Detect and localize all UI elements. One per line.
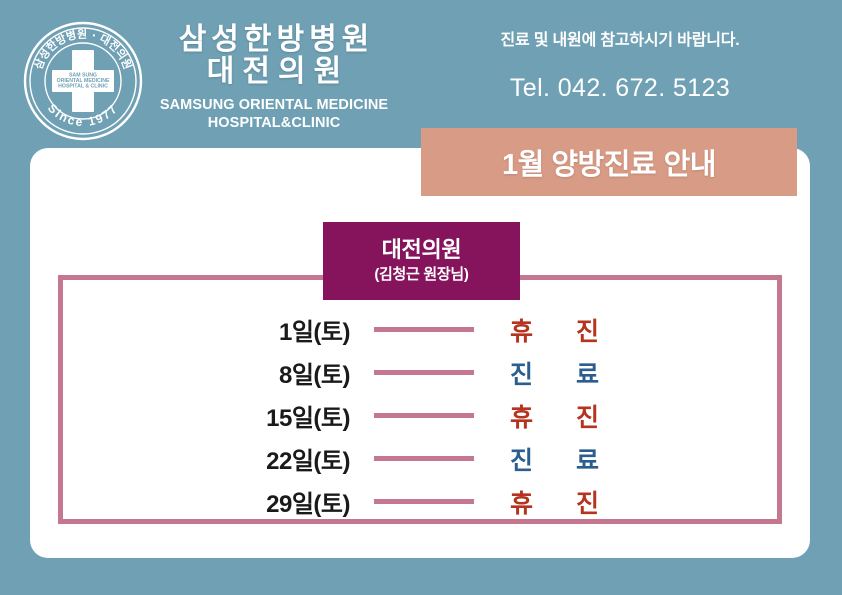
dash-line-icon [374, 370, 474, 375]
row-status: 휴 진 [498, 484, 690, 520]
row-separator [350, 413, 498, 418]
notice-text: 진료 및 내원에 참고하시기 바랍니다. [430, 26, 810, 50]
hospital-name-kr-line1: 삼성한방병원 [148, 24, 400, 56]
row-separator [350, 370, 498, 375]
hospital-name-en-line2: HOSPITAL&CLINIC [148, 114, 400, 132]
row-status: 휴 진 [498, 312, 690, 348]
table-row: 22일(토) 진 료 [58, 437, 782, 480]
row-date: 8일(토) [58, 355, 350, 390]
clinic-name: 대전의원 [382, 238, 462, 262]
row-status: 휴 진 [498, 398, 690, 434]
clinic-doctor-name: (김청근 원장님) [374, 267, 468, 284]
row-date: 22일(토) [58, 441, 350, 476]
table-row: 29일(토) 휴 진 [58, 480, 782, 523]
dash-line-icon [374, 456, 474, 461]
row-separator [350, 456, 498, 461]
title-banner: 1월 양방진료 안내 [421, 128, 797, 196]
telephone-number: Tel. 042. 672. 5123 [430, 74, 810, 103]
hospital-name-en-line1: SAMSUNG ORIENTAL MEDICINE [148, 96, 400, 114]
hospital-name-kr-line2: 대전의원 [148, 56, 400, 88]
clinic-header-box: 대전의원 (김청근 원장님) [323, 222, 520, 300]
contact-block: 진료 및 내원에 참고하시기 바랍니다. Tel. 042. 672. 5123 [430, 26, 810, 103]
hospital-seal-logo: 삼성한방병원 · 대전의원 Since 1977 SAM SUNG ORIENT… [22, 20, 144, 142]
row-status: 진 료 [498, 441, 690, 477]
dash-line-icon [374, 499, 474, 504]
table-row: 8일(토) 진 료 [58, 351, 782, 394]
svg-text:HOSPITAL & CLINIC: HOSPITAL & CLINIC [58, 84, 108, 90]
schedule-rows: 1일(토) 휴 진 8일(토) 진 료 15일(토) 휴 진 22일(토) 진 … [58, 308, 782, 523]
row-date: 29일(토) [58, 484, 350, 519]
page-title: 1월 양방진료 안내 [502, 141, 716, 183]
row-date: 1일(토) [58, 312, 350, 347]
dash-line-icon [374, 413, 474, 418]
row-separator [350, 327, 498, 332]
table-row: 1일(토) 휴 진 [58, 308, 782, 351]
dash-line-icon [374, 327, 474, 332]
table-row: 15일(토) 휴 진 [58, 394, 782, 437]
row-status: 진 료 [498, 355, 690, 391]
hospital-name-block: 삼성한방병원 대전의원 SAMSUNG ORIENTAL MEDICINE HO… [148, 24, 400, 132]
row-separator [350, 499, 498, 504]
row-date: 15일(토) [58, 398, 350, 433]
